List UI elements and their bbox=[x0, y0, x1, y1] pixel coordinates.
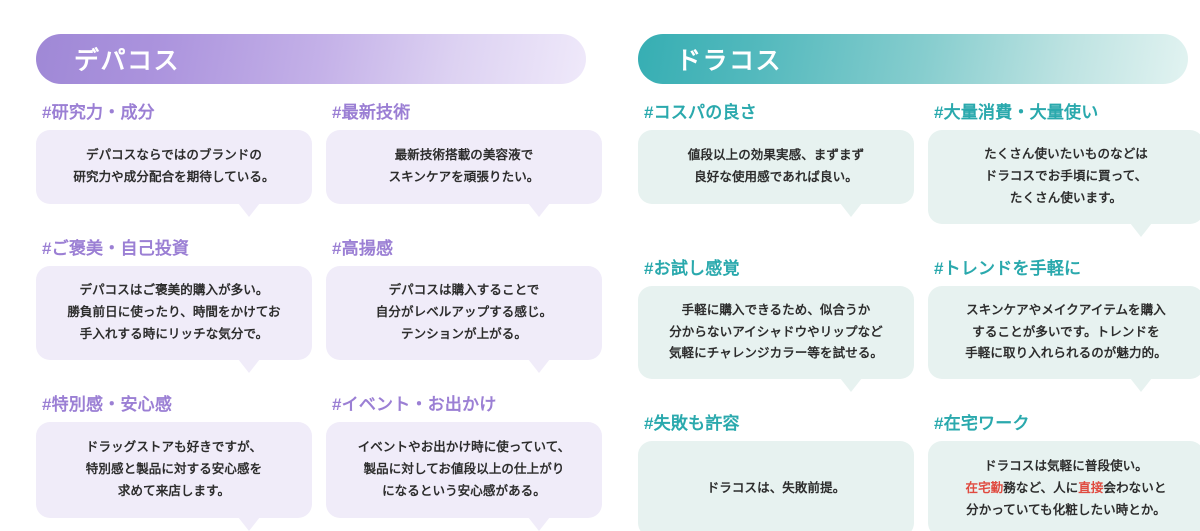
bubble-line: 研究力や成分配合を期待している。 bbox=[73, 167, 274, 189]
bubble-line: 良好な使用感であれば良い。 bbox=[688, 167, 864, 189]
panel-header-doracos: ドラコス bbox=[638, 34, 1188, 84]
cell-event-outing: #イベント・お出かけ イベントやお出かけ時に使っていて、 製品に対してお値段以上… bbox=[326, 368, 602, 518]
tag-remote-work: #在宅ワーク bbox=[934, 409, 1200, 434]
bubble-line: デパコスならではのブランドの bbox=[73, 145, 274, 167]
bubble-line: 手入れする時にリッチな気分で。 bbox=[67, 324, 280, 346]
bubble-line: スキンケアやメイクアイテムを購入 bbox=[965, 300, 1167, 322]
cell-uplift: #高揚感 デパコスは購入することで 自分がレベルアップする感じ。 テンションが上… bbox=[326, 212, 602, 360]
tag-reward: #ご褒美・自己投資 bbox=[42, 234, 312, 259]
bubble-latest-tech: 最新技術搭載の美容液で スキンケアを頑張りたい。 bbox=[326, 130, 602, 204]
bubble-cost-performance: 値段以上の効果実感、まずまず 良好な使用感であれば良い。 bbox=[638, 130, 914, 204]
bubble-line: 手軽に購入できるため、似合うか bbox=[669, 300, 883, 322]
bubble-line: 分かっていても化粧したい時とか。 bbox=[965, 500, 1166, 522]
cell-grid-doracos: #コスパの良さ 値段以上の効果実感、まずまず 良好な使用感であれば良い。 #大量… bbox=[638, 98, 1188, 531]
comparison-board: デパコス #研究力・成分 デパコスならではのブランドの 研究力や成分配合を期待し… bbox=[0, 0, 1200, 531]
bubble-line: 気軽にチャレンジカラー等を試せる。 bbox=[669, 343, 883, 365]
bubble-line: することが多いです。トレンドを bbox=[965, 322, 1167, 344]
bubble-line: 分からないアイシャドウやリップなど bbox=[669, 322, 883, 344]
bubble-research: デパコスならではのブランドの 研究力や成分配合を期待している。 bbox=[36, 130, 312, 204]
bubble-line: イベントやお出かけ時に使っていて、 bbox=[358, 437, 571, 459]
bubble-special-trust: ドラッグストアも好きですが、 特別感と製品に対する安心感を 求めて来店します。 bbox=[36, 422, 312, 518]
bubble-line: 製品に対してお値段以上の仕上がり bbox=[358, 459, 571, 481]
bubble-failure-ok: ドラコスは、失敗前提。 bbox=[638, 441, 914, 531]
panel-doracos: ドラコス #コスパの良さ 値段以上の効果実感、まずまず 良好な使用感であれば良い… bbox=[628, 34, 1198, 531]
cell-special-trust: #特別感・安心感 ドラッグストアも好きですが、 特別感と製品に対する安心感を 求… bbox=[36, 368, 312, 518]
bubble-line: 値段以上の効果実感、まずまず bbox=[688, 145, 864, 167]
tag-trial-feel: #お試し感覚 bbox=[644, 254, 914, 279]
tag-cost-performance: #コスパの良さ bbox=[644, 98, 914, 123]
bubble-line: ドラッグストアも好きですが、 bbox=[86, 437, 262, 459]
panel-depacos: デパコス #研究力・成分 デパコスならではのブランドの 研究力や成分配合を期待し… bbox=[26, 34, 596, 531]
bubble-reward: デパコスはご褒美的購入が多い。 勝負前日に使ったり、時間をかけてお 手入れする時… bbox=[36, 266, 312, 360]
cell-failure-ok: #失敗も許容 ドラコスは、失敗前提。 bbox=[638, 387, 914, 531]
bubble-line: ドラコスは、失敗前提。 bbox=[707, 478, 846, 500]
cell-cost-performance: #コスパの良さ 値段以上の効果実感、まずまず 良好な使用感であれば良い。 bbox=[638, 98, 914, 224]
tag-special-trust: #特別感・安心感 bbox=[42, 390, 312, 415]
tag-bulk-use: #大量消費・大量使い bbox=[934, 98, 1200, 123]
tag-failure-ok: #失敗も許容 bbox=[644, 409, 914, 434]
bubble-line: スキンケアを頑張りたい。 bbox=[389, 167, 540, 189]
cell-trial-feel: #お試し感覚 手軽に購入できるため、似合うか 分からないアイシャドウやリップなど… bbox=[638, 232, 914, 380]
cell-grid-depacos: #研究力・成分 デパコスならではのブランドの 研究力や成分配合を期待している。 … bbox=[36, 98, 586, 518]
bubble-line: 手軽に取り入れられるのが魅力的。 bbox=[965, 343, 1167, 365]
tag-event-outing: #イベント・お出かけ bbox=[332, 390, 602, 415]
bubble-line: たくさん使いたいものなどは bbox=[984, 144, 1148, 166]
bubble-line: ドラコスでお手頃に買って、 bbox=[984, 166, 1148, 188]
bubble-line: 特別感と製品に対する安心感を bbox=[86, 459, 262, 481]
bubble-line: 勝負前日に使ったり、時間をかけてお bbox=[67, 302, 280, 324]
cell-trend-easy: #トレンドを手軽に スキンケアやメイクアイテムを購入 することが多いです。トレン… bbox=[928, 232, 1200, 380]
cell-bulk-use: #大量消費・大量使い たくさん使いたいものなどは ドラコスでお手頃に買って、 た… bbox=[928, 98, 1200, 224]
bubble-trend-easy: スキンケアやメイクアイテムを購入 することが多いです。トレンドを 手軽に取り入れ… bbox=[928, 286, 1200, 380]
bubble-line: テンションが上がる。 bbox=[376, 324, 552, 346]
tag-trend-easy: #トレンドを手軽に bbox=[934, 254, 1200, 279]
bubble-trial-feel: 手軽に購入できるため、似合うか 分からないアイシャドウやリップなど 気軽にチャレ… bbox=[638, 286, 914, 380]
bubble-line: 自分がレベルアップする感じ。 bbox=[376, 302, 552, 324]
bubble-line: 求めて来店します。 bbox=[86, 481, 262, 503]
bubble-line: デパコスは購入することで bbox=[376, 280, 552, 302]
tag-research: #研究力・成分 bbox=[42, 98, 312, 123]
panel-title-depacos: デパコス bbox=[74, 41, 180, 77]
bubble-uplift: デパコスは購入することで 自分がレベルアップする感じ。 テンションが上がる。 bbox=[326, 266, 602, 360]
bubble-bulk-use: たくさん使いたいものなどは ドラコスでお手頃に買って、 たくさん使います。 bbox=[928, 130, 1200, 224]
bubble-line: たくさん使います。 bbox=[984, 188, 1148, 210]
cell-reward: #ご褒美・自己投資 デパコスはご褒美的購入が多い。 勝負前日に使ったり、時間をか… bbox=[36, 212, 312, 360]
highlighted-text: 在宅勤 bbox=[965, 481, 1003, 495]
tag-uplift: #高揚感 bbox=[332, 234, 602, 259]
bubble-line-highlighted: 在宅勤務など、人に直接会わないと bbox=[965, 478, 1166, 500]
bubble-line: ドラコスは気軽に普段使い。 bbox=[965, 456, 1166, 478]
bubble-event-outing: イベントやお出かけ時に使っていて、 製品に対してお値段以上の仕上がり になるとい… bbox=[326, 422, 602, 518]
cell-latest-tech: #最新技術 最新技術搭載の美容液で スキンケアを頑張りたい。 bbox=[326, 98, 602, 204]
bubble-line: 最新技術搭載の美容液で bbox=[389, 145, 540, 167]
cell-research: #研究力・成分 デパコスならではのブランドの 研究力や成分配合を期待している。 bbox=[36, 98, 312, 204]
bubble-line: になるという安心感がある。 bbox=[358, 481, 571, 503]
tag-latest-tech: #最新技術 bbox=[332, 98, 602, 123]
bubble-line: デパコスはご褒美的購入が多い。 bbox=[67, 280, 280, 302]
cell-remote-work: #在宅ワーク ドラコスは気軽に普段使い。 在宅勤務など、人に直接会わないと 分か… bbox=[928, 387, 1200, 531]
panel-header-depacos: デパコス bbox=[36, 34, 586, 84]
bubble-remote-work: ドラコスは気軽に普段使い。 在宅勤務など、人に直接会わないと 分かっていても化粧… bbox=[928, 441, 1200, 531]
panel-title-doracos: ドラコス bbox=[676, 41, 782, 77]
highlighted-text: 直接 bbox=[1078, 481, 1103, 495]
